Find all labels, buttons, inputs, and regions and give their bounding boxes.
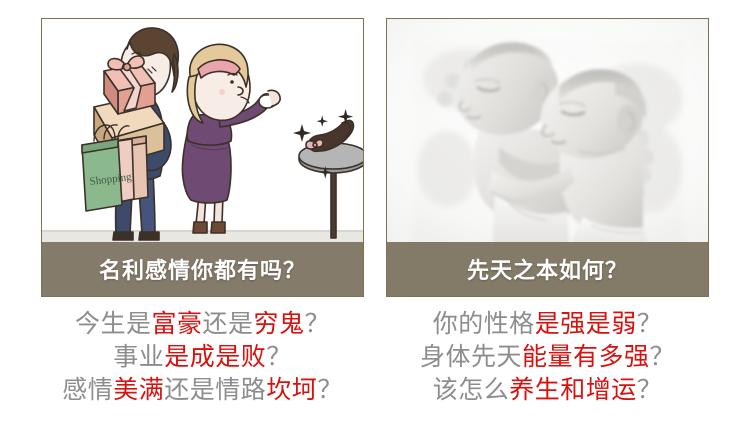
question-line: 今生是富豪还是穷鬼？ bbox=[75, 308, 330, 341]
highlight-text: 美满 bbox=[113, 376, 164, 404]
image-panels-row: Shopping 名利感情你都有吗？ bbox=[0, 0, 750, 300]
caption-bar-right: 先天之本如何？ bbox=[387, 242, 708, 296]
plain-text: ？ bbox=[637, 310, 663, 338]
caption-bar-left: 名利感情你都有吗？ bbox=[42, 242, 363, 296]
plain-text: 事业 bbox=[113, 343, 164, 371]
plain-text: ？ bbox=[637, 376, 663, 404]
question-line: 事业是成是败？ bbox=[113, 341, 292, 374]
illustration-shopping-couple: Shopping bbox=[42, 19, 363, 244]
plain-text: ？ bbox=[305, 310, 331, 338]
highlight-text: 富豪 bbox=[151, 310, 202, 338]
sleeping-babies-svg bbox=[387, 19, 708, 244]
plain-text: 该怎么 bbox=[433, 376, 510, 404]
plain-text: 今生是 bbox=[75, 310, 152, 338]
plain-text: ？ bbox=[650, 343, 676, 371]
highlight-text: 养生和增运 bbox=[509, 376, 637, 404]
promo-banner: Shopping 名利感情你都有吗？ bbox=[0, 0, 750, 445]
text-column-right: 你的性格是强是弱？身体先天能量有多强？该怎么养生和增运？ bbox=[386, 302, 709, 445]
caption-right-text: 先天之本如何？ bbox=[467, 253, 628, 285]
text-column-left: 今生是富豪还是穷鬼？事业是成是败？感情美满还是情路坎坷？ bbox=[41, 302, 364, 445]
photo-sleeping-babies bbox=[387, 19, 708, 244]
question-line: 身体先天能量有多强？ bbox=[420, 341, 675, 374]
plain-text: 身体先天 bbox=[420, 343, 522, 371]
highlight-text: 坎坷 bbox=[266, 376, 317, 404]
question-line: 感情美满还是情路坎坷？ bbox=[62, 374, 343, 407]
panel-left[interactable]: Shopping 名利感情你都有吗？ bbox=[41, 18, 364, 297]
plain-text: ？ bbox=[317, 376, 343, 404]
highlight-text: 能量有多强 bbox=[522, 343, 650, 371]
plain-text: ？ bbox=[266, 343, 292, 371]
plain-text: 你的性格 bbox=[433, 310, 535, 338]
highlight-text: 穷鬼 bbox=[254, 310, 305, 338]
question-line: 你的性格是强是弱？ bbox=[433, 308, 663, 341]
shopping-couple-svg: Shopping bbox=[42, 19, 363, 244]
plain-text: 还是 bbox=[202, 310, 253, 338]
question-text-block: 今生是富豪还是穷鬼？事业是成是败？感情美满还是情路坎坷？ 你的性格是强是弱？身体… bbox=[0, 302, 750, 445]
panel-right[interactable]: 先天之本如何？ bbox=[386, 18, 709, 297]
plain-text: 感情 bbox=[62, 376, 113, 404]
caption-left-text: 名利感情你都有吗？ bbox=[99, 253, 306, 285]
highlight-text: 是强是弱 bbox=[535, 310, 637, 338]
question-line: 该怎么养生和增运？ bbox=[433, 374, 663, 407]
plain-text: 还是情路 bbox=[164, 376, 266, 404]
highlight-text: 是成是败 bbox=[164, 343, 266, 371]
